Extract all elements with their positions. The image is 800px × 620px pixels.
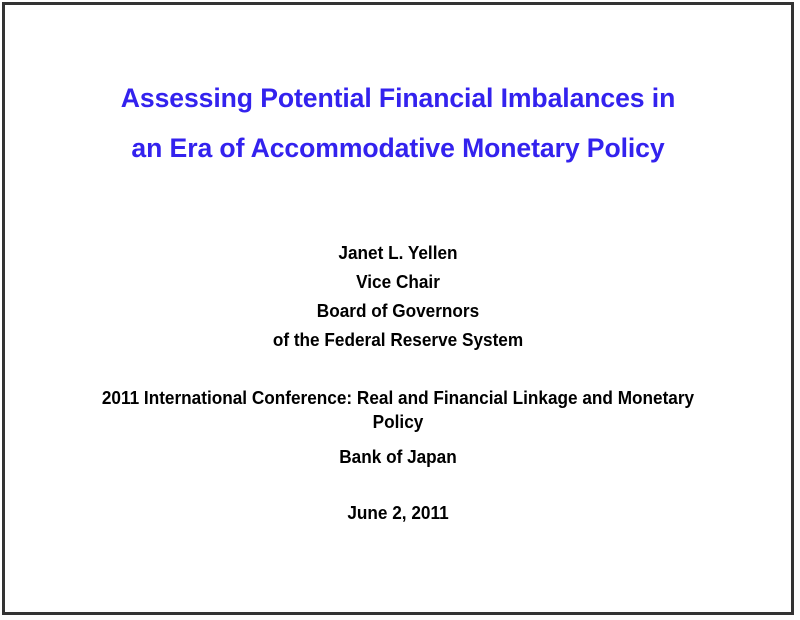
author-affiliation-block: Janet L. Yellen Vice Chair Board of Gove… — [5, 239, 791, 355]
date-text: June 2, 2011 — [23, 499, 774, 528]
title-line-1: Assessing Potential Financial Imbalances… — [11, 73, 785, 123]
slide-canvas: Assessing Potential Financial Imbalances… — [5, 5, 791, 612]
author-title: Vice Chair — [23, 268, 774, 297]
conference-venue: Bank of Japan — [23, 443, 774, 472]
author-organization-line-2: of the Federal Reserve System — [23, 326, 774, 355]
author-organization-line-1: Board of Governors — [23, 297, 774, 326]
conference-block: 2011 International Conference: Real and … — [5, 386, 791, 472]
slide-title: Assessing Potential Financial Imbalances… — [5, 73, 791, 173]
conference-spacer — [5, 434, 791, 443]
presentation-date: June 2, 2011 — [5, 499, 791, 528]
slide-page: Assessing Potential Financial Imbalances… — [0, 0, 800, 620]
title-line-2: an Era of Accommodative Monetary Policy — [11, 123, 785, 173]
author-name: Janet L. Yellen — [23, 239, 774, 268]
conference-name: 2011 International Conference: Real and … — [92, 386, 703, 434]
